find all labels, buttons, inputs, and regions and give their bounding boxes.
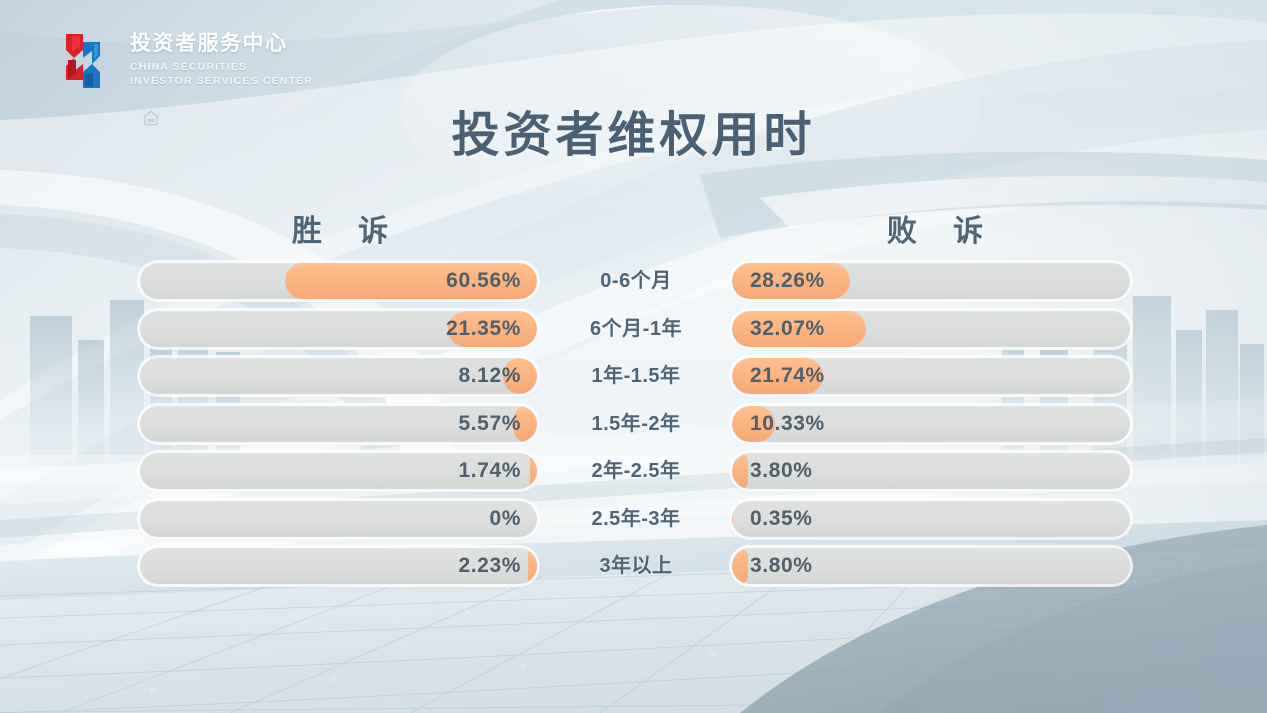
bar-value-win: 60.56% [446, 263, 521, 299]
category-label: 1年-1.5年 [556, 358, 716, 394]
bar-value-win: 0% [489, 501, 521, 537]
brand-name-en-line2: INVESTOR SERVICES CENTER [130, 75, 313, 89]
bar-track-lose[interactable]: 0.35% [732, 501, 1130, 537]
chart-row: 60.56%0-6个月28.26% [0, 263, 1267, 299]
chart-row: 21.35%6个月-1年32.07% [0, 311, 1267, 347]
column-header-lose: 败 诉 [840, 206, 1030, 250]
bar-track-win[interactable]: 60.56% [140, 263, 537, 299]
category-label: 6个月-1年 [556, 311, 716, 347]
bar-track-win[interactable]: 5.57% [140, 406, 537, 442]
bar-value-lose: 10.33% [750, 406, 825, 442]
bar-fill-lose [732, 548, 748, 584]
bar-value-win: 2.23% [458, 548, 521, 584]
bar-track-win[interactable]: 21.35% [140, 311, 537, 347]
bar-value-lose: 3.80% [750, 453, 813, 489]
bar-value-win: 5.57% [458, 406, 521, 442]
chart-row: 1.74%2年-2.5年3.80% [0, 453, 1267, 489]
bar-value-win: 1.74% [458, 453, 521, 489]
bar-fill-win [530, 453, 537, 489]
bar-track-lose[interactable]: 28.26% [732, 263, 1130, 299]
bar-track-lose[interactable]: 3.80% [732, 453, 1130, 489]
bar-track-lose[interactable]: 10.33% [732, 406, 1130, 442]
bar-track-lose[interactable]: 32.07% [732, 311, 1130, 347]
column-header-win: 胜 诉 [245, 206, 435, 250]
brand-lockup: 投资者服务中心 CHINA SECURITIES INVESTOR SERVIC… [52, 28, 313, 92]
chart-row: 0%2.5年-3年0.35% [0, 501, 1267, 537]
bar-fill-lose [732, 453, 748, 489]
bar-value-lose: 21.74% [750, 358, 825, 394]
bar-fill-lose [732, 501, 733, 537]
category-label: 2.5年-3年 [556, 501, 716, 537]
csisc-interlocking-logo-icon [52, 30, 114, 92]
bar-track-win[interactable]: 1.74% [140, 453, 537, 489]
bar-value-lose: 0.35% [750, 501, 813, 537]
category-label: 2年-2.5年 [556, 453, 716, 489]
chart-row: 2.23%3年以上3.80% [0, 548, 1267, 584]
bar-value-win: 8.12% [458, 358, 521, 394]
bar-track-lose[interactable]: 3.80% [732, 548, 1130, 584]
bar-value-lose: 28.26% [750, 263, 825, 299]
bar-value-win: 21.35% [446, 311, 521, 347]
brand-name-en-line1: CHINA SECURITIES [130, 61, 313, 75]
brand-name-cn: 投资者服务中心 [130, 32, 313, 56]
page-title: 投资者维权用时 [0, 95, 1267, 165]
bar-track-win[interactable]: 2.23% [140, 548, 537, 584]
category-label: 1.5年-2年 [556, 406, 716, 442]
bar-value-lose: 32.07% [750, 311, 825, 347]
bar-fill-win [528, 548, 537, 584]
bar-value-lose: 3.80% [750, 548, 813, 584]
bar-track-win[interactable]: 0% [140, 501, 537, 537]
bar-track-win[interactable]: 8.12% [140, 358, 537, 394]
chart-row: 5.57%1.5年-2年10.33% [0, 406, 1267, 442]
bar-track-lose[interactable]: 21.74% [732, 358, 1130, 394]
category-label: 0-6个月 [556, 263, 716, 299]
category-label: 3年以上 [556, 548, 716, 584]
chart-row: 8.12%1年-1.5年21.74% [0, 358, 1267, 394]
